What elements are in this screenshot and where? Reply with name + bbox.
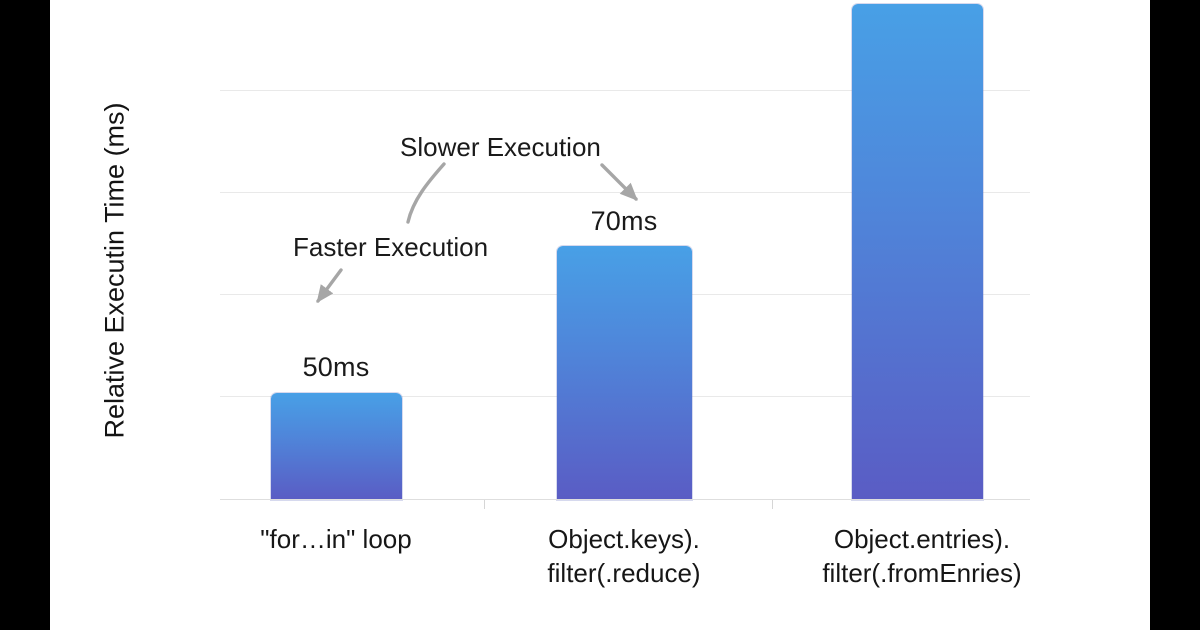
y-axis-title: Relative Executin Time (ms) [100,71,131,471]
x-axis-line [220,499,1030,500]
bar-value-label-1: 50ms [266,352,406,383]
letterbox-right [1150,0,1200,630]
annotation-faster-execution: Faster Execution [293,232,488,263]
x-axis-tick [484,500,485,509]
bar-value-label-2: 70ms [554,206,694,237]
letterbox-left [0,0,50,630]
bar-for-in-loop[interactable] [271,393,402,500]
annotation-slower-execution: Slower Execution [400,132,601,163]
x-axis-label-object-keys: Object.keys). filter(.reduce) [494,522,754,590]
x-axis-tick [772,500,773,509]
bar-object-keys-filter-reduce[interactable] [557,246,692,500]
x-axis-label-object-entries: Object.entries). filter(.fromEnries) [787,522,1057,590]
x-axis-label-for-in-loop: "for…in" loop [206,522,466,556]
slide-stage: 50ms 70ms "for…in" loop Object.keys). fi… [0,0,1200,630]
bar-object-entries-filter-fromentries[interactable] [852,4,983,500]
slower-execution-curve-icon [408,164,444,222]
slide-canvas: 50ms 70ms "for…in" loop Object.keys). fi… [50,0,1150,630]
bar-chart: 50ms 70ms "for…in" loop Object.keys). fi… [50,0,1150,630]
slower-execution-arrow-icon [602,165,636,199]
faster-execution-arrow-icon [318,270,341,301]
